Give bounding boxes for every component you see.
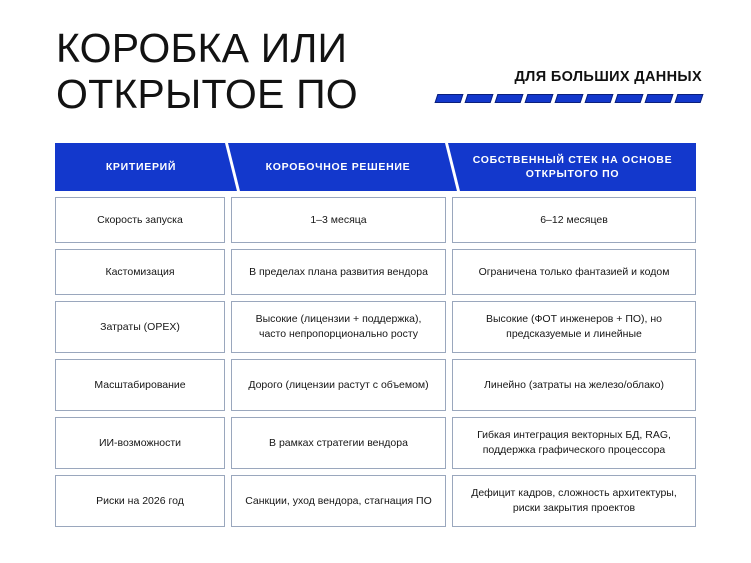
dash-icon bbox=[645, 94, 674, 103]
dash-icon bbox=[525, 94, 554, 103]
table-header-boxed: КОРОБОЧНОЕ РЕШЕНИЕ bbox=[227, 160, 449, 174]
dash-icon bbox=[495, 94, 524, 103]
page-title: КОРОБКА ИЛИ ОТКРЫТОЕ ПО bbox=[56, 25, 456, 117]
cell-boxed: В рамках стратегии вендора bbox=[231, 417, 446, 469]
dash-icon bbox=[585, 94, 614, 103]
cell-open: Гибкая интеграция векторных БД, RAG, под… bbox=[452, 417, 696, 469]
comparison-table: КРИТИЕРИЙ КОРОБОЧНОЕ РЕШЕНИЕ СОБСТВЕННЫЙ… bbox=[55, 143, 696, 527]
cell-open: Ограничена только фантазией и кодом bbox=[452, 249, 696, 295]
cell-boxed: В пределах плана развития вендора bbox=[231, 249, 446, 295]
table-header-open: СОБСТВЕННЫЙ СТЕК НА ОСНОВЕ ОТКРЫТОГО ПО bbox=[449, 153, 696, 181]
cell-criterion: Риски на 2026 год bbox=[55, 475, 225, 527]
table-row: Затраты (OPEX) Высокие (лицензии + подде… bbox=[55, 301, 696, 353]
table-header-criterion: КРИТИЕРИЙ bbox=[55, 160, 227, 174]
dash-icon bbox=[465, 94, 494, 103]
cell-criterion: Скорость запуска bbox=[55, 197, 225, 243]
cell-open: Линейно (затраты на железо/облако) bbox=[452, 359, 696, 411]
cell-open: Дефицит кадров, сложность архитектуры, р… bbox=[452, 475, 696, 527]
slide-header: КОРОБКА ИЛИ ОТКРЫТОЕ ПО ДЛЯ БОЛЬШИХ ДАНН… bbox=[0, 0, 751, 136]
cell-open: 6–12 месяцев bbox=[452, 197, 696, 243]
cell-criterion: Кастомизация bbox=[55, 249, 225, 295]
table-body: Скорость запуска 1–3 месяца 6–12 месяцев… bbox=[55, 197, 696, 527]
slide-root: КОРОБКА ИЛИ ОТКРЫТОЕ ПО ДЛЯ БОЛЬШИХ ДАНН… bbox=[0, 0, 751, 563]
table-row: Кастомизация В пределах плана развития в… bbox=[55, 249, 696, 295]
table-header-row: КРИТИЕРИЙ КОРОБОЧНОЕ РЕШЕНИЕ СОБСТВЕННЫЙ… bbox=[55, 143, 696, 191]
cell-criterion: ИИ-возможности bbox=[55, 417, 225, 469]
dash-decoration bbox=[430, 94, 702, 103]
cell-boxed: Санкции, уход вендора, стагнация ПО bbox=[231, 475, 446, 527]
dash-icon bbox=[555, 94, 584, 103]
subtitle-block: ДЛЯ БОЛЬШИХ ДАННЫХ bbox=[430, 68, 702, 103]
dash-icon bbox=[675, 94, 704, 103]
table-row: Масштабирование Дорого (лицензии растут … bbox=[55, 359, 696, 411]
cell-boxed: 1–3 месяца bbox=[231, 197, 446, 243]
table-row: ИИ-возможности В рамках стратегии вендор… bbox=[55, 417, 696, 469]
table-row: Скорость запуска 1–3 месяца 6–12 месяцев bbox=[55, 197, 696, 243]
dash-icon bbox=[615, 94, 644, 103]
table-row: Риски на 2026 год Санкции, уход вендора,… bbox=[55, 475, 696, 527]
cell-boxed: Дорого (лицензии растут с объемом) bbox=[231, 359, 446, 411]
dash-icon bbox=[435, 94, 464, 103]
cell-criterion: Масштабирование bbox=[55, 359, 225, 411]
page-subtitle: ДЛЯ БОЛЬШИХ ДАННЫХ bbox=[430, 68, 702, 86]
cell-open: Высокие (ФОТ инженеров + ПО), но предска… bbox=[452, 301, 696, 353]
cell-criterion: Затраты (OPEX) bbox=[55, 301, 225, 353]
cell-boxed: Высокие (лицензии + поддержка), часто не… bbox=[231, 301, 446, 353]
